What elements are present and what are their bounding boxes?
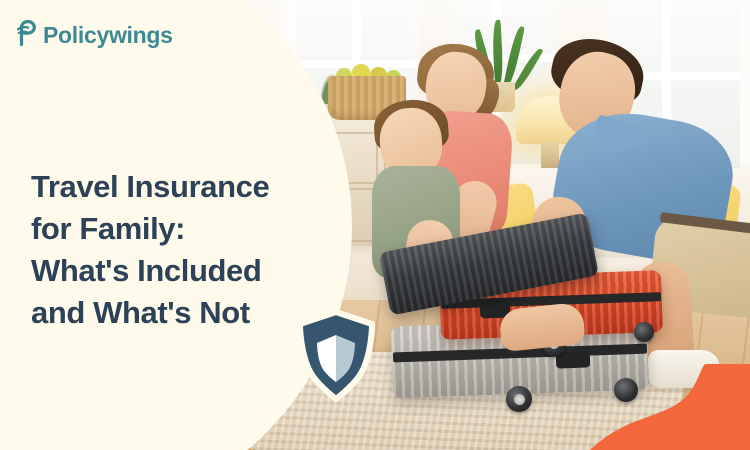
travel-insurance-banner: Policywings Travel Insurance for Family:…: [0, 0, 750, 450]
headline-line-4: and What's Not: [31, 292, 331, 334]
headline-line-3: What's Included: [31, 250, 331, 292]
suitcase-wheel-hub: [514, 394, 525, 405]
orange-corner-blob: [590, 364, 750, 450]
policywings-p-wing-icon: [17, 20, 39, 51]
logo-wordmark: Policywings: [43, 24, 173, 47]
headline-line-2: for Family:: [31, 208, 331, 250]
headline-line-1: Travel Insurance: [31, 166, 331, 208]
policywings-logo[interactable]: Policywings: [17, 20, 173, 51]
suitcase-wheel: [634, 322, 654, 342]
table-lamp-base: [541, 142, 559, 168]
shield-protection-icon: [293, 309, 379, 403]
silver-suitcase-handle: [556, 351, 591, 368]
page-title: Travel Insurance for Family: What's Incl…: [31, 166, 331, 335]
